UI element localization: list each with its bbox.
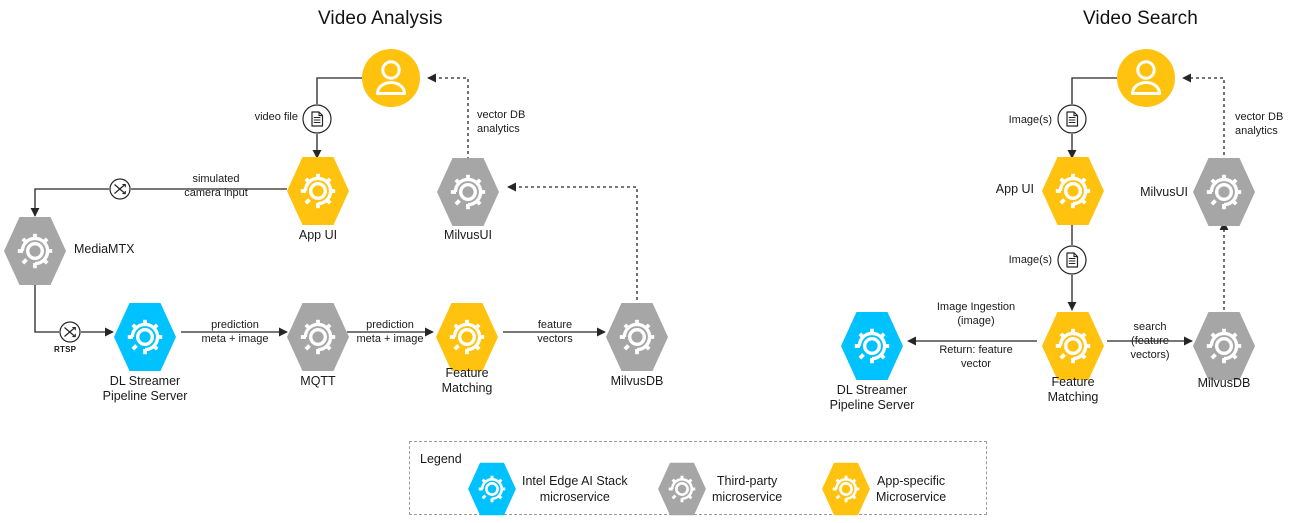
hexagon-intel-edge-ai <box>114 302 176 372</box>
vs-node-app-ui[interactable] <box>1042 156 1104 226</box>
vs-user-avatar[interactable] <box>1117 49 1175 107</box>
hexagon-app-specific <box>1042 311 1104 381</box>
va-node-dl-streamer[interactable] <box>114 302 176 372</box>
va-edge-label-prediction-1: prediction meta + image <box>185 318 285 346</box>
legend-label-third-party: Third-party microservice <box>712 473 782 505</box>
va-label-milvusui: MilvusUI <box>413 228 523 243</box>
vs-label-app-ui: App UI <box>948 182 1034 197</box>
legend-title: Legend <box>420 452 462 466</box>
va-edge-label-simulated-camera-input: simulated camera input <box>136 172 296 200</box>
vs-label-feature-matching: Feature Matching <box>1018 375 1128 405</box>
legend-item-intel-edge-ai: Intel Edge AI Stack microservice <box>468 462 628 516</box>
vs-edge-label-return-feature-vector: Return: feature vector <box>918 343 1034 371</box>
vs-node-milvusui[interactable] <box>1193 157 1255 227</box>
hexagon-app-specific <box>436 302 498 372</box>
vs-label-dl-streamer: DL Streamer Pipeline Server <box>817 383 927 413</box>
section-title-video-analysis: Video Analysis <box>318 8 443 30</box>
va-label-mqtt: MQTT <box>263 374 373 389</box>
legend-item-app-specific: App-specific Microservice <box>822 462 946 516</box>
hexagon-third-party <box>606 302 668 372</box>
legend-item-third-party: Third-party microservice <box>658 462 782 516</box>
va-edge-label-rtsp: RTSP <box>54 345 76 354</box>
hexagon-third-party <box>1193 157 1255 227</box>
va-node-feature-matching[interactable] <box>436 302 498 372</box>
va-edge-label-prediction-2: prediction meta + image <box>340 318 440 346</box>
hexagon-intel-edge-ai <box>841 311 903 381</box>
hexagon-app-specific <box>822 462 870 516</box>
va-node-milvusdb[interactable] <box>606 302 668 372</box>
hexagon-third-party <box>437 157 499 227</box>
vs-images-mid-doc-icon <box>1057 245 1087 275</box>
vs-label-milvusui: MilvusUI <box>1112 185 1188 200</box>
va-label-mediamtx: MediaMTX <box>74 242 134 257</box>
va-node-milvusui[interactable] <box>437 157 499 227</box>
diagram-canvas: Video Analysis Video Search <box>0 0 1302 523</box>
vs-edge-label-image-ingestion: Image Ingestion (image) <box>918 300 1034 328</box>
line1: simulated camera input <box>184 173 248 199</box>
vs-images-top-doc-icon <box>1057 104 1087 134</box>
va-label-app-ui: App UI <box>263 228 373 243</box>
vs-edge-label-vector-db-analytics: vector DB analytics <box>1235 110 1302 138</box>
vs-label-milvusdb: MilvusDB <box>1169 376 1279 391</box>
hexagon-app-specific <box>1042 156 1104 226</box>
hexagon-third-party <box>4 216 66 286</box>
vs-node-milvusdb[interactable] <box>1193 311 1255 381</box>
va-edge-label-feature-vectors: feature vectors <box>505 318 605 346</box>
va-label-milvusdb: MilvusDB <box>582 374 692 389</box>
hexagon-app-specific <box>287 156 349 226</box>
va-edge-label-video-file: video file <box>193 110 298 124</box>
vs-node-feature-matching[interactable] <box>1042 311 1104 381</box>
hexagon-third-party <box>658 462 706 516</box>
hexagon-third-party <box>1193 311 1255 381</box>
va-label-feature-matching: Feature Matching <box>412 366 522 396</box>
va-rtsp-connector-icon <box>59 321 81 343</box>
section-title-video-search: Video Search <box>1083 8 1198 30</box>
va-edge-label-vector-db-analytics: vector DB analytics <box>477 108 587 136</box>
va-simulated-camera-connector-icon <box>109 178 131 200</box>
va-node-mediamtx[interactable] <box>4 216 66 286</box>
legend-label-intel-edge-ai: Intel Edge AI Stack microservice <box>522 473 628 505</box>
vs-edge-label-images-mid: Image(s) <box>948 253 1052 267</box>
vs-edge-label-search-feature-vectors: search (feature vectors) <box>1114 320 1186 362</box>
vs-edge-label-images-top: Image(s) <box>948 113 1052 127</box>
vs-node-dl-streamer[interactable] <box>841 311 903 381</box>
va-label-dl-streamer: DL Streamer Pipeline Server <box>90 374 200 404</box>
va-user-avatar[interactable] <box>362 49 420 107</box>
va-node-app-ui[interactable] <box>287 156 349 226</box>
va-video-file-doc-icon <box>302 104 332 134</box>
legend-label-app-specific: App-specific Microservice <box>876 473 946 505</box>
hexagon-intel-edge-ai <box>468 462 516 516</box>
legend-box: Legend <box>409 441 987 515</box>
